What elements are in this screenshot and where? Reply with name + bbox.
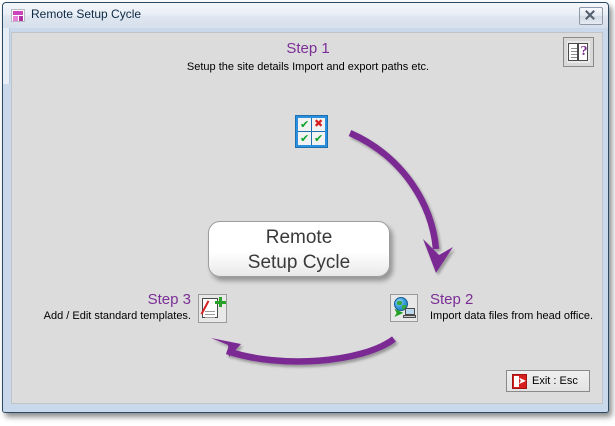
checklist-cell: ✔ (298, 118, 311, 131)
checklist-grid-icon[interactable]: ✔ ✖ ✔ ✔ (295, 115, 328, 148)
exit-button-label: Exit : Esc (532, 374, 578, 389)
exit-button[interactable]: ➤ Exit : Esc (506, 370, 590, 392)
left-edge-tab (3, 28, 10, 84)
step-2-description: Import data files from head office. (430, 309, 593, 323)
app-window: Remote Setup Cycle Step 1 Setup the site… (2, 2, 609, 413)
step-3-block: Step 3 Add / Edit standard templates. (42, 291, 227, 331)
step-1-description: Setup the site details Import and export… (12, 60, 603, 74)
step-2-title: Step 2 (430, 291, 473, 308)
step-1-title: Step 1 (12, 40, 603, 58)
window-title: Remote Setup Cycle (31, 7, 141, 21)
arrow-step2-to-step3 (211, 338, 394, 361)
close-icon[interactable] (579, 7, 603, 25)
exit-door-icon: ➤ (512, 374, 527, 389)
help-icon-inner: ? (567, 41, 590, 63)
content-panel: Step 1 Setup the site details Import and… (11, 32, 603, 404)
center-label-line-2: Setup Cycle (209, 250, 389, 275)
cycle-center-label: Remote Setup Cycle (208, 221, 390, 277)
step-1-heading: Step 1 Setup the site details Import and… (12, 40, 603, 74)
center-label-line-1: Remote (209, 225, 389, 250)
client-area: Step 1 Setup the site details Import and… (3, 28, 608, 412)
globe-to-laptop-icon[interactable]: ➤ (390, 294, 418, 322)
checklist-cell: ✖ (312, 118, 325, 131)
question-mark-icon: ? (579, 43, 589, 61)
plus-icon-bar (215, 301, 226, 304)
laptop-icon (403, 308, 416, 318)
checklist-cell: ✔ (298, 132, 311, 145)
title-bar: Remote Setup Cycle (3, 3, 608, 29)
step-3-description: Add / Edit standard templates. (44, 309, 191, 323)
book-left-page (568, 43, 578, 61)
document-edit-add-icon[interactable] (198, 294, 227, 323)
checklist-cell: ✔ (312, 132, 325, 145)
step-3-title: Step 3 (148, 291, 191, 308)
cycle-arrows (12, 33, 603, 404)
app-icon (11, 9, 25, 22)
help-book-icon[interactable]: ? (563, 37, 594, 67)
